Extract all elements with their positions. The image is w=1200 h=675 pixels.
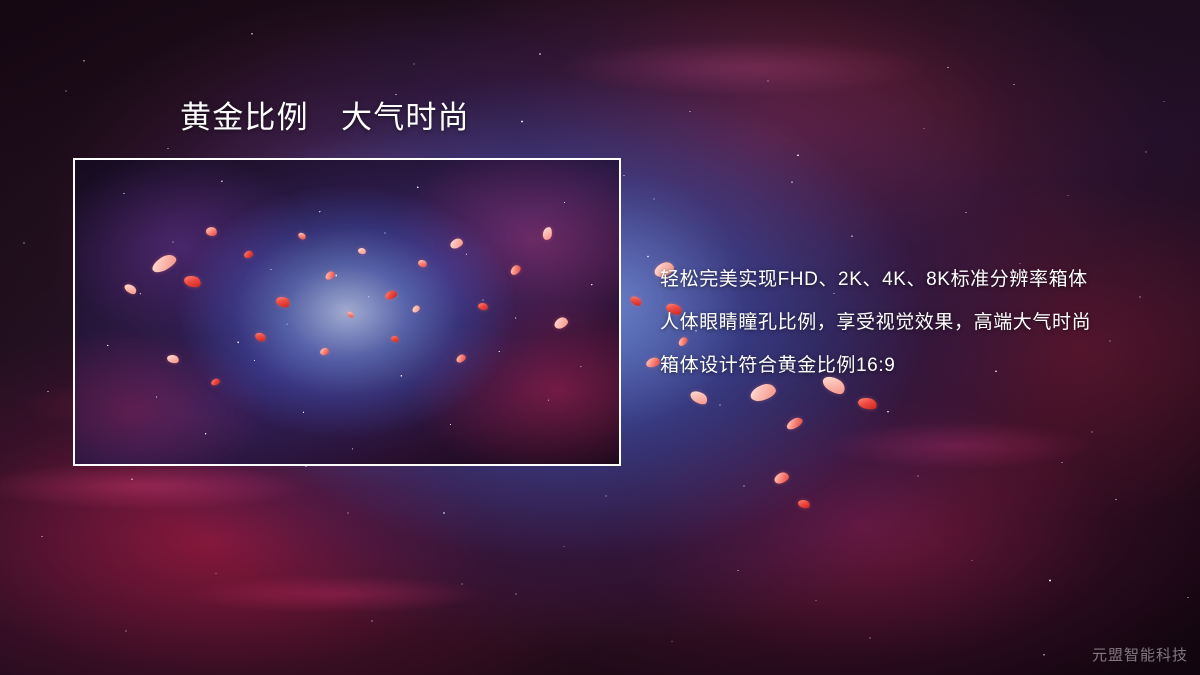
presentation-slide: 黄金比例 大气时尚 轻松完美实现FHD、2K、4K、8K标准分辨率箱体 人体眼睛… xyxy=(0,0,1200,675)
preview-frame[interactable] xyxy=(73,158,621,466)
petal xyxy=(645,356,661,368)
petal xyxy=(417,259,428,269)
petal xyxy=(297,231,307,241)
petal xyxy=(384,289,398,300)
petal xyxy=(629,294,643,308)
preview-frame-content xyxy=(75,160,619,464)
petal xyxy=(253,331,267,343)
petal xyxy=(183,273,203,289)
petal xyxy=(123,282,138,296)
petal xyxy=(688,388,709,407)
petal xyxy=(319,348,329,357)
petal xyxy=(324,270,336,281)
petal xyxy=(243,250,254,259)
petal xyxy=(449,237,464,250)
feature-line-2: 人体眼睛瞳孔比例，享受视觉效果，高端大气时尚 xyxy=(660,301,1160,344)
petal xyxy=(275,294,292,309)
preview-petals xyxy=(75,160,619,464)
watermark: 元盟智能科技 xyxy=(1092,644,1188,665)
page-title: 黄金比例 大气时尚 xyxy=(180,101,470,136)
petal xyxy=(167,353,181,364)
petal xyxy=(455,353,467,364)
petal xyxy=(773,470,791,485)
petal xyxy=(150,252,179,276)
feature-line-3: 箱体设计符合黄金比例16:9 xyxy=(660,344,1160,387)
petal xyxy=(857,396,878,411)
petal xyxy=(477,302,488,311)
petal xyxy=(542,226,553,240)
petal xyxy=(411,304,421,314)
feature-line-1: 轻松完美实现FHD、2K、4K、8K标准分辨率箱体 xyxy=(660,258,1160,301)
petal xyxy=(346,310,354,318)
petal xyxy=(797,498,811,509)
petal xyxy=(210,378,221,387)
petal xyxy=(390,335,400,344)
feature-description: 轻松完美实现FHD、2K、4K、8K标准分辨率箱体 人体眼睛瞳孔比例，享受视觉效… xyxy=(660,258,1160,387)
petal xyxy=(205,226,218,237)
petal xyxy=(552,316,569,331)
petal xyxy=(357,247,367,255)
petal xyxy=(509,264,523,277)
petal xyxy=(785,415,804,431)
